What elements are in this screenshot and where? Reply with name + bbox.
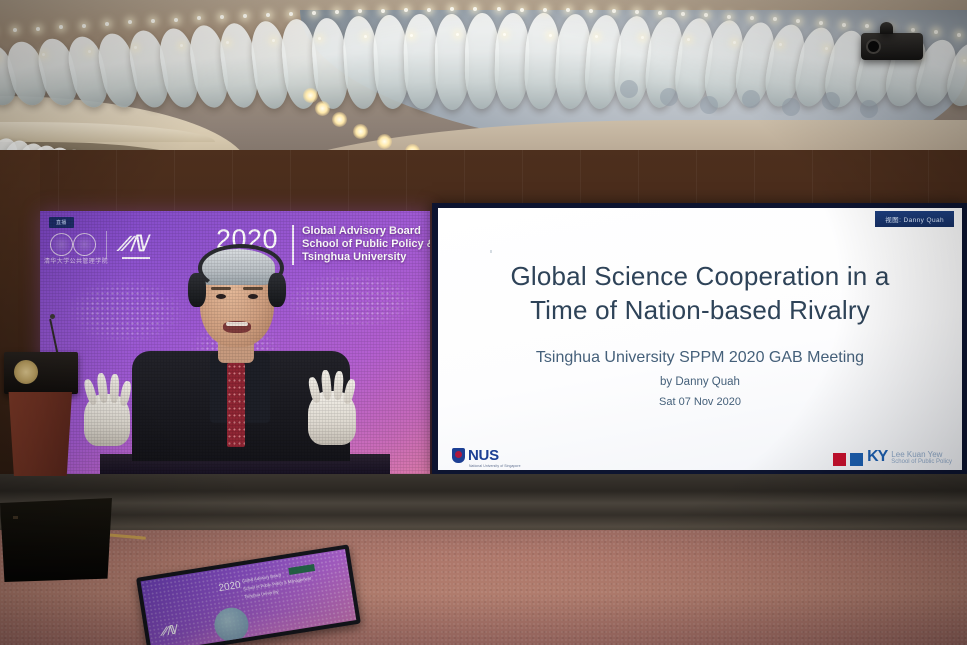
recessed-downlight bbox=[315, 101, 330, 116]
floor-speaker-cabinet bbox=[0, 498, 112, 582]
auditorium-scene: 直播 清华大学公共管理学院 ⁄⁄ℕ 2020 Nov. 7 Global Adv… bbox=[0, 0, 967, 645]
slide-speck bbox=[490, 250, 492, 253]
crest-light bbox=[497, 7, 501, 11]
lky-logo: KY Lee Kuan Yew School of Public Policy bbox=[833, 448, 952, 466]
led-pixel-grid bbox=[40, 211, 430, 474]
crest-light bbox=[88, 50, 91, 53]
lky-name-line1: Lee Kuan Yew bbox=[891, 450, 952, 459]
nus-wordmark: NUS bbox=[468, 447, 499, 464]
crest-light bbox=[589, 9, 593, 13]
crest-light bbox=[796, 19, 800, 23]
monitor-sppm-mark-icon: ⁄⁄ℕ bbox=[163, 622, 177, 638]
crest-light bbox=[825, 47, 828, 50]
crest-light bbox=[243, 14, 247, 18]
crest-light bbox=[842, 23, 846, 27]
nus-shield-icon bbox=[452, 448, 465, 463]
nus-logo: NUS bbox=[452, 447, 499, 464]
ceiling-fin bbox=[434, 14, 469, 110]
lectern-body bbox=[6, 392, 72, 476]
crest-light bbox=[595, 35, 598, 38]
crest-light bbox=[750, 16, 754, 20]
slide-title-line1: Global Science Cooperation in a bbox=[438, 260, 962, 293]
slide-title-line2: Time of Nation-based Rivalry bbox=[438, 294, 962, 327]
recessed-downlight bbox=[353, 124, 368, 139]
crest-light bbox=[272, 39, 275, 42]
crest-light bbox=[733, 41, 736, 44]
crest-light bbox=[957, 33, 961, 37]
crest-light bbox=[520, 8, 524, 12]
flush-can-light bbox=[660, 88, 678, 106]
crest-light bbox=[635, 10, 639, 14]
crest-light bbox=[658, 11, 662, 15]
projector-lens-icon bbox=[866, 39, 881, 54]
flush-can-light bbox=[860, 100, 878, 118]
crest-light bbox=[566, 8, 570, 12]
lky-blue-square-icon bbox=[850, 453, 863, 466]
crest-light bbox=[289, 12, 293, 16]
microphone-head-icon bbox=[50, 314, 55, 319]
projected-slide[interactable]: 视图: Danny Quah Global Science Cooperatio… bbox=[438, 208, 962, 470]
flush-can-light bbox=[782, 98, 800, 116]
crest-light bbox=[641, 36, 644, 39]
crest-light bbox=[36, 27, 40, 31]
crest-light bbox=[180, 44, 183, 47]
crest-light bbox=[681, 12, 685, 16]
flush-can-light bbox=[620, 80, 638, 98]
flush-can-light bbox=[742, 90, 760, 108]
led-video-wall[interactable]: 直播 清华大学公共管理学院 ⁄⁄ℕ 2020 Nov. 7 Global Adv… bbox=[40, 211, 430, 474]
crest-light bbox=[42, 53, 45, 56]
crest-light bbox=[266, 13, 270, 17]
lky-name-line2: School of Public Policy bbox=[891, 459, 952, 466]
crest-light bbox=[82, 24, 86, 28]
crest-light bbox=[549, 34, 552, 37]
lky-red-square-icon bbox=[833, 453, 846, 466]
slide-date: Sat 07 Nov 2020 bbox=[438, 396, 962, 408]
slide-subtitle: Tsinghua University SPPM 2020 GAB Meetin… bbox=[438, 349, 962, 367]
crest-light bbox=[819, 21, 823, 25]
crest-light bbox=[727, 15, 731, 19]
crest-light bbox=[174, 18, 178, 22]
crest-light bbox=[963, 59, 966, 62]
presenter-pill: 视图: Danny Quah bbox=[875, 211, 954, 227]
speaker-indicator-icon bbox=[13, 516, 18, 519]
flush-can-light bbox=[822, 92, 840, 110]
crest-light bbox=[687, 38, 690, 41]
nus-subtext: National University of Singapore bbox=[469, 464, 521, 468]
lectern-emblem-icon bbox=[14, 360, 38, 384]
slide-byline: by Danny Quah bbox=[438, 376, 962, 388]
lky-monogram: KY bbox=[867, 448, 887, 466]
flush-can-light bbox=[700, 96, 718, 114]
crest-light bbox=[543, 8, 547, 12]
recessed-downlight bbox=[303, 88, 318, 103]
projector-top-knob bbox=[880, 22, 893, 34]
